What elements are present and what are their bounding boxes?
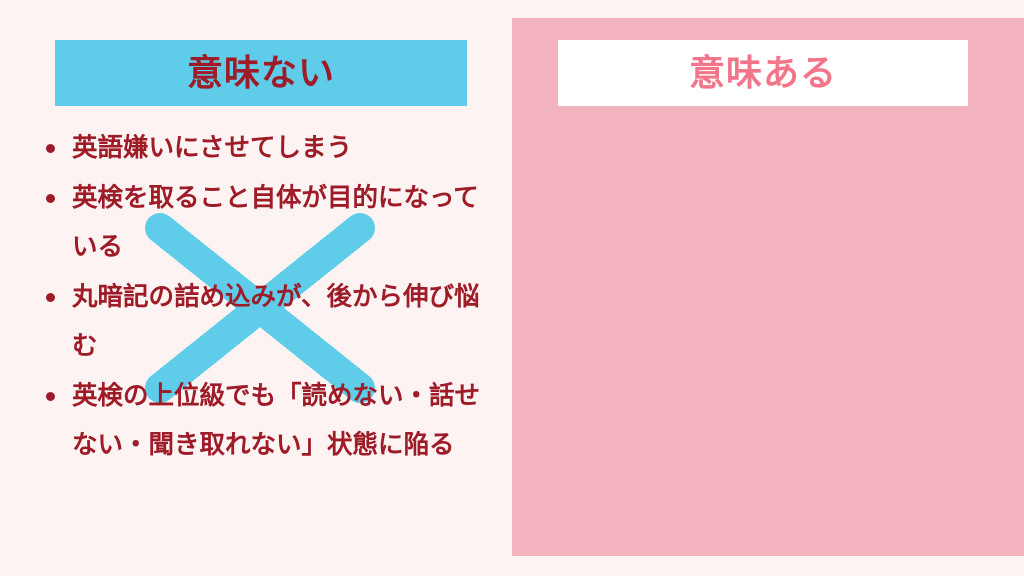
left-column: 意味ない 英語嫌いにさせてしまう 英検を取ること自体が目的になっている 丸暗記の… <box>0 0 512 576</box>
left-header-title: 意味ない <box>187 55 335 91</box>
right-header-title: 意味ある <box>689 55 837 91</box>
list-item: 英検を取ること自体が目的になっている <box>42 174 497 272</box>
slide-canvas: 意味ない 英語嫌いにさせてしまう 英検を取ること自体が目的になっている 丸暗記の… <box>0 0 1024 576</box>
left-header-banner: 意味ない <box>55 40 467 106</box>
list-item: 丸暗記の詰め込みが、後から伸び悩む <box>42 273 497 371</box>
list-item: 英検の上位級でも「読めない・話せない・聞き取れない」状態に陥る <box>42 372 497 470</box>
bullet-dot-icon <box>46 293 55 302</box>
bullet-dot-icon <box>46 392 55 401</box>
right-column: 意味ある ４技能は「聞く→話す→読む→書く」の順番を守る 英検をゴールではなく、… <box>512 0 1024 576</box>
list-item: 英語嫌いにさせてしまう <box>42 124 497 173</box>
bullet-dot-icon <box>46 194 55 203</box>
left-bullet-list: 英語嫌いにさせてしまう 英検を取ること自体が目的になっている 丸暗記の詰め込みが… <box>42 124 497 471</box>
list-item-label: 英語嫌いにさせてしまう <box>72 134 352 162</box>
list-item-label: 英検を取ること自体が目的になっている <box>72 184 479 261</box>
right-header-banner: 意味ある <box>558 40 968 106</box>
list-item-label: 英検の上位級でも「読めない・話せない・聞き取れない」状態に陥る <box>72 382 480 459</box>
bullet-dot-icon <box>46 144 55 153</box>
list-item-label: 丸暗記の詰め込みが、後から伸び悩む <box>72 283 480 360</box>
